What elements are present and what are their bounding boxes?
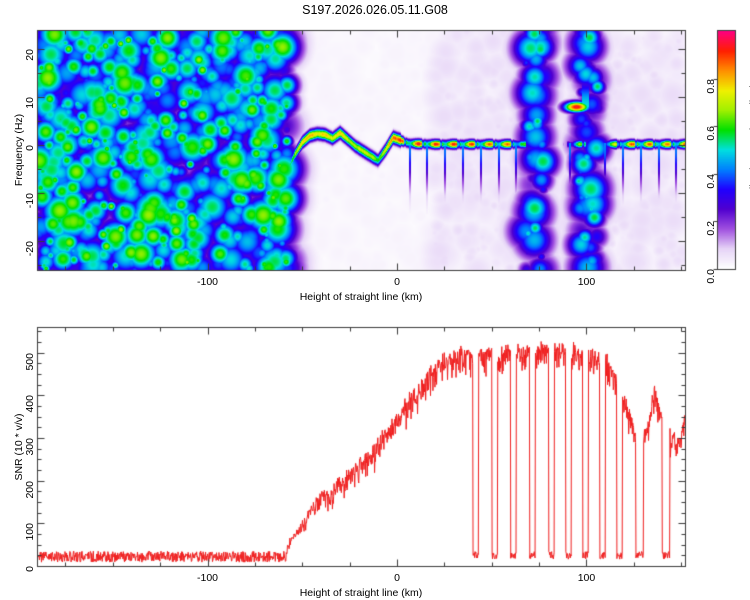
snr-ytick-label: 400 xyxy=(25,395,36,413)
figure-root: S197.2026.026.05.11.G08 -1000100-20-1001… xyxy=(0,0,750,600)
spectrogram-xtick-label: 0 xyxy=(394,277,400,288)
spectrogram-yaxis-label: Frequency (Hz) xyxy=(14,114,25,186)
snr-yaxis-label: SNR (10 * v/v) xyxy=(14,413,25,480)
figure-title: S197.2026.026.05.11.G08 xyxy=(0,4,750,17)
colorbar-tick-label: 0.0 xyxy=(706,269,717,284)
snr-xtick-label: -100 xyxy=(197,573,218,584)
colorbar-tick-label: 0.8 xyxy=(706,79,717,94)
spectrogram-ytick-label: 20 xyxy=(25,49,36,61)
spectrogram-ytick-label: -20 xyxy=(25,241,36,256)
snr-xtick-label: 0 xyxy=(394,573,400,584)
snr-ytick-label: 300 xyxy=(25,438,36,456)
spectrogram-xtick-label: 100 xyxy=(578,277,596,288)
colorbar-tick-label: 0.2 xyxy=(706,221,717,236)
spectrogram-xaxis-label: Height of straight line (km) xyxy=(300,292,423,303)
snr-xaxis-label: Height of straight line (km) xyxy=(300,588,423,599)
snr-ytick-label: 100 xyxy=(25,523,36,541)
snr-ytick-label: 500 xyxy=(25,353,36,371)
spectrogram-xtick-label: -100 xyxy=(197,277,218,288)
spectrogram-ytick-label: 10 xyxy=(25,97,36,109)
spectrogram-ytick-label: -10 xyxy=(25,193,36,208)
spectrogram-ytick-label: 0 xyxy=(25,145,36,151)
colorbar-tick-label: 0.6 xyxy=(706,126,717,141)
snr-xtick-label: 100 xyxy=(578,573,596,584)
snr-ytick-label: 200 xyxy=(25,481,36,499)
colorbar-tick-label: 0.4 xyxy=(706,174,717,189)
snr-ytick-label: 0 xyxy=(25,566,36,572)
